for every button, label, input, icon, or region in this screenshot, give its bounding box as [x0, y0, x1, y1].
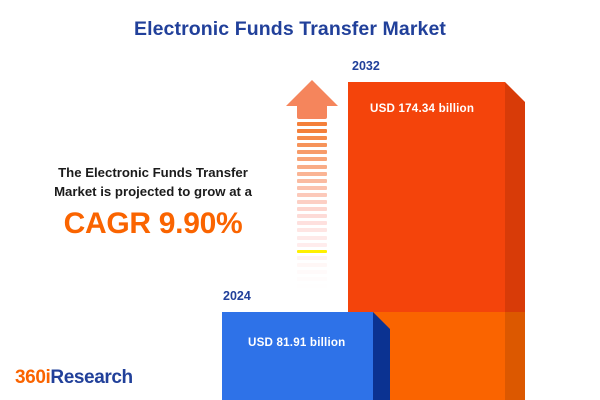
up-arrow-stripe — [297, 129, 327, 133]
up-arrow-stripe — [297, 228, 327, 232]
up-arrow-stripe — [297, 221, 327, 225]
bar-2024-value-label: USD 81.91 billion — [248, 336, 345, 349]
up-arrow-stripe — [297, 256, 327, 260]
up-arrow-stripe — [297, 263, 327, 267]
up-arrow-stripe — [297, 143, 327, 147]
up-arrow-stripe — [297, 186, 327, 190]
bar-2032-value-label: USD 174.34 billion — [370, 102, 474, 115]
up-arrow-stripe — [297, 122, 327, 126]
bar-2024-front-face — [222, 312, 373, 400]
up-arrow-neck — [297, 105, 327, 119]
up-arrow-stripe — [297, 193, 327, 197]
bar-2032-year-label: 2032 — [352, 59, 380, 73]
up-arrow-stripe — [297, 250, 327, 253]
page-title: Electronic Funds Transfer Market — [0, 18, 580, 41]
up-arrow-stripe — [297, 200, 327, 204]
up-arrow-icon — [286, 80, 338, 292]
cagr-callout: The Electronic Funds Transfer Market is … — [22, 163, 284, 241]
up-arrow-shaft-stripes — [297, 122, 327, 292]
up-arrow-stripe — [297, 214, 327, 218]
infographic-canvas: Electronic Funds Transfer Market The Ele… — [0, 0, 600, 400]
up-arrow-stripe — [297, 270, 327, 274]
up-arrow-stripe — [297, 284, 327, 288]
up-arrow-stripe — [297, 291, 327, 295]
up-arrow-stripe — [297, 243, 327, 247]
brand-logo-research: Research — [50, 367, 132, 388]
cagr-callout-line-1: The Electronic Funds Transfer — [22, 163, 284, 182]
bar-2032-side-face-lower — [505, 312, 525, 400]
up-arrow-stripe — [297, 136, 327, 140]
up-arrow-stripe — [297, 179, 327, 183]
cagr-value: CAGR 9.90% — [22, 207, 284, 241]
up-arrow-stripe — [297, 236, 327, 240]
up-arrow-stripe — [297, 150, 327, 154]
up-arrow-stripe — [297, 277, 327, 281]
bar-2024-year-label: 2024 — [223, 289, 251, 303]
up-arrow-stripe — [297, 207, 327, 211]
up-arrow-stripe — [297, 172, 327, 176]
up-arrow-head — [286, 80, 338, 106]
brand-logo-360i: 360i — [15, 367, 50, 388]
up-arrow-stripe — [297, 165, 327, 169]
cagr-callout-line-2: Market is projected to grow at a — [22, 182, 284, 201]
brand-logo: 360iResearch — [15, 367, 133, 389]
up-arrow-stripe — [297, 157, 327, 161]
